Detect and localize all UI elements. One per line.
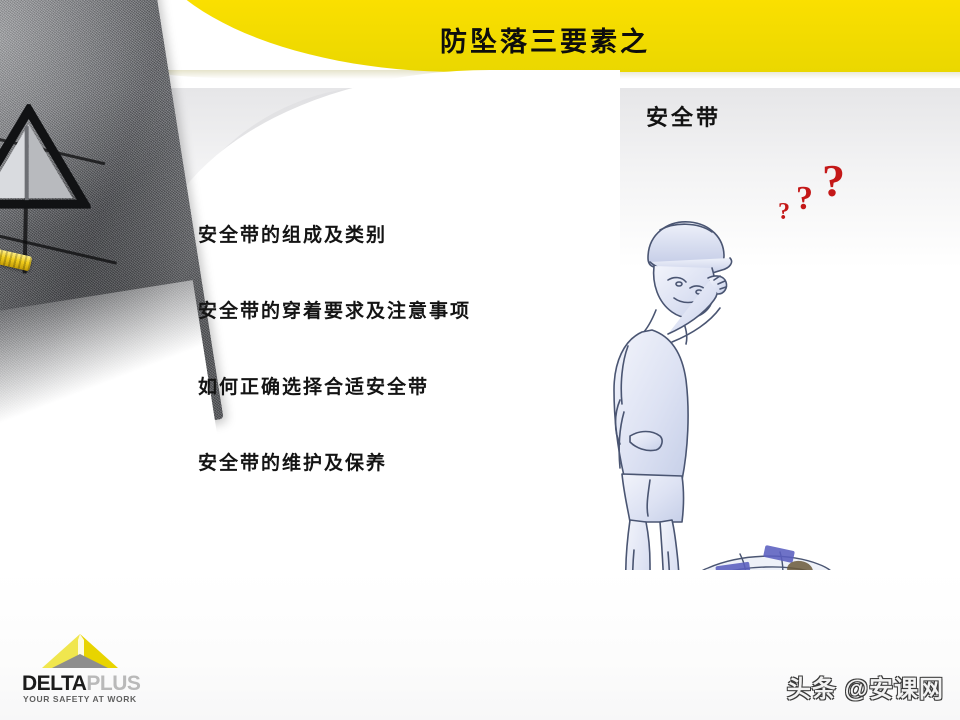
question-mark-small: ? bbox=[778, 200, 790, 224]
list-item[interactable]: 安全带的穿着要求及注意事项 bbox=[198, 296, 598, 323]
yellow-buckle bbox=[0, 243, 33, 272]
list-item[interactable]: 如何正确选择合适安全带 bbox=[198, 372, 598, 399]
page-subtitle: 安全带 bbox=[646, 100, 721, 132]
question-marks-group: ? ? ? bbox=[770, 158, 880, 248]
list-item[interactable]: 安全带的组成及类别 bbox=[198, 220, 598, 247]
logo-wordmark: DELTAPLUS bbox=[22, 672, 182, 696]
question-mark-large: ? bbox=[822, 158, 845, 204]
page-title: 防坠落三要素之 bbox=[0, 20, 960, 59]
agenda-list: 安全带的组成及类别 安全带的穿着要求及注意事项 如何正确选择合适安全带 安全带的… bbox=[198, 220, 598, 524]
logo-delta-text: DELTA bbox=[22, 672, 86, 695]
photo-strip-fade bbox=[0, 280, 224, 520]
logo-plus-text: PLUS bbox=[86, 672, 140, 695]
delta-plus-logo: DELTAPLUS YOUR SAFETY AT WORK bbox=[22, 632, 182, 706]
delta-triangle-emblem-icon bbox=[0, 104, 91, 214]
delta-plus-mark-icon bbox=[22, 632, 182, 674]
logo-tagline: YOUR SAFETY AT WORK bbox=[23, 694, 183, 704]
question-mark-medium: ? bbox=[796, 182, 813, 216]
watermark: 头条 @安课网 bbox=[787, 669, 944, 704]
list-item[interactable]: 安全带的维护及保养 bbox=[198, 448, 598, 475]
slide-canvas: 防坠落三要素之 安全带 安全带的组成及类别 安全带的穿着要求及注意事项 如何正确… bbox=[0, 0, 960, 720]
